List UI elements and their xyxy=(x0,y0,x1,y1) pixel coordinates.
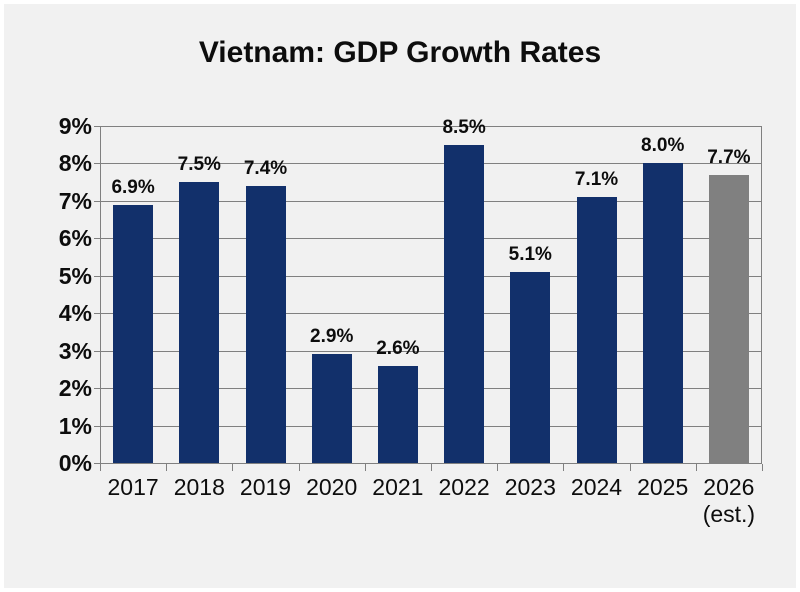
bar-value-label: 6.9% xyxy=(88,178,178,197)
bar[interactable] xyxy=(510,272,550,463)
chart-title: Vietnam: GDP Growth Rates xyxy=(4,36,796,70)
bar-value-label: 7.1% xyxy=(552,170,642,189)
bar[interactable] xyxy=(444,145,484,463)
x-axis-tick xyxy=(166,464,167,471)
y-axis-tick xyxy=(94,426,100,427)
bar-value-label: 2.6% xyxy=(353,339,443,358)
plot-right-border xyxy=(761,126,762,464)
x-axis-tick xyxy=(299,464,300,471)
bar[interactable] xyxy=(312,354,352,463)
y-axis-tick-label: 6% xyxy=(16,227,92,250)
x-axis-tick xyxy=(630,464,631,471)
bar-value-label: 5.1% xyxy=(485,245,575,264)
bar[interactable] xyxy=(643,163,683,463)
y-axis-tick xyxy=(94,126,100,127)
x-axis-tick xyxy=(100,464,101,471)
y-axis-tick xyxy=(94,388,100,389)
x-axis-tick xyxy=(497,464,498,471)
x-axis-tick xyxy=(762,464,763,471)
y-axis-tick xyxy=(94,163,100,164)
x-axis-tick xyxy=(696,464,697,471)
x-axis-tick xyxy=(365,464,366,471)
y-axis-tick xyxy=(94,351,100,352)
x-axis-labels: 2017201820192020202120222023202420252026… xyxy=(100,474,762,544)
y-axis-tick-label: 1% xyxy=(16,415,92,438)
y-axis-tick xyxy=(94,276,100,277)
x-axis-tick xyxy=(563,464,564,471)
y-axis-tick xyxy=(94,238,100,239)
y-axis-tick-label: 7% xyxy=(16,190,92,213)
bar-value-label: 7.7% xyxy=(684,148,774,167)
x-axis-tick-label: 2026(est.) xyxy=(679,474,779,528)
y-axis-tick-label: 8% xyxy=(16,152,92,175)
chart-container: Vietnam: GDP Growth Rates 9%8%7%6%5%4%3%… xyxy=(4,4,796,588)
y-axis-tick-label: 5% xyxy=(16,265,92,288)
y-axis-tick-label: 2% xyxy=(16,377,92,400)
y-axis-tick-label: 0% xyxy=(16,452,92,475)
bar[interactable] xyxy=(246,186,286,463)
x-axis-label-year: 2026 xyxy=(703,474,754,500)
y-axis-tick-label: 4% xyxy=(16,302,92,325)
bar-value-label: 7.4% xyxy=(221,159,311,178)
y-axis-labels: 9%8%7%6%5%4%3%2%1%0% xyxy=(12,126,92,464)
bar-value-label: 8.5% xyxy=(419,118,509,137)
x-axis-tick xyxy=(232,464,233,471)
plot-area: 6.9%7.5%7.4%2.9%2.6%8.5%5.1%7.1%8.0%7.7% xyxy=(100,126,762,463)
y-axis-tick xyxy=(94,201,100,202)
bar[interactable] xyxy=(577,197,617,463)
x-axis-label-note: (est.) xyxy=(679,501,779,528)
x-axis-tick xyxy=(431,464,432,471)
bar[interactable] xyxy=(378,366,418,463)
y-axis-tick-label: 3% xyxy=(16,340,92,363)
bar[interactable] xyxy=(113,205,153,463)
y-axis-tick-label: 9% xyxy=(16,115,92,138)
y-axis-tick xyxy=(94,313,100,314)
bar[interactable] xyxy=(709,175,749,463)
bar[interactable] xyxy=(179,182,219,463)
